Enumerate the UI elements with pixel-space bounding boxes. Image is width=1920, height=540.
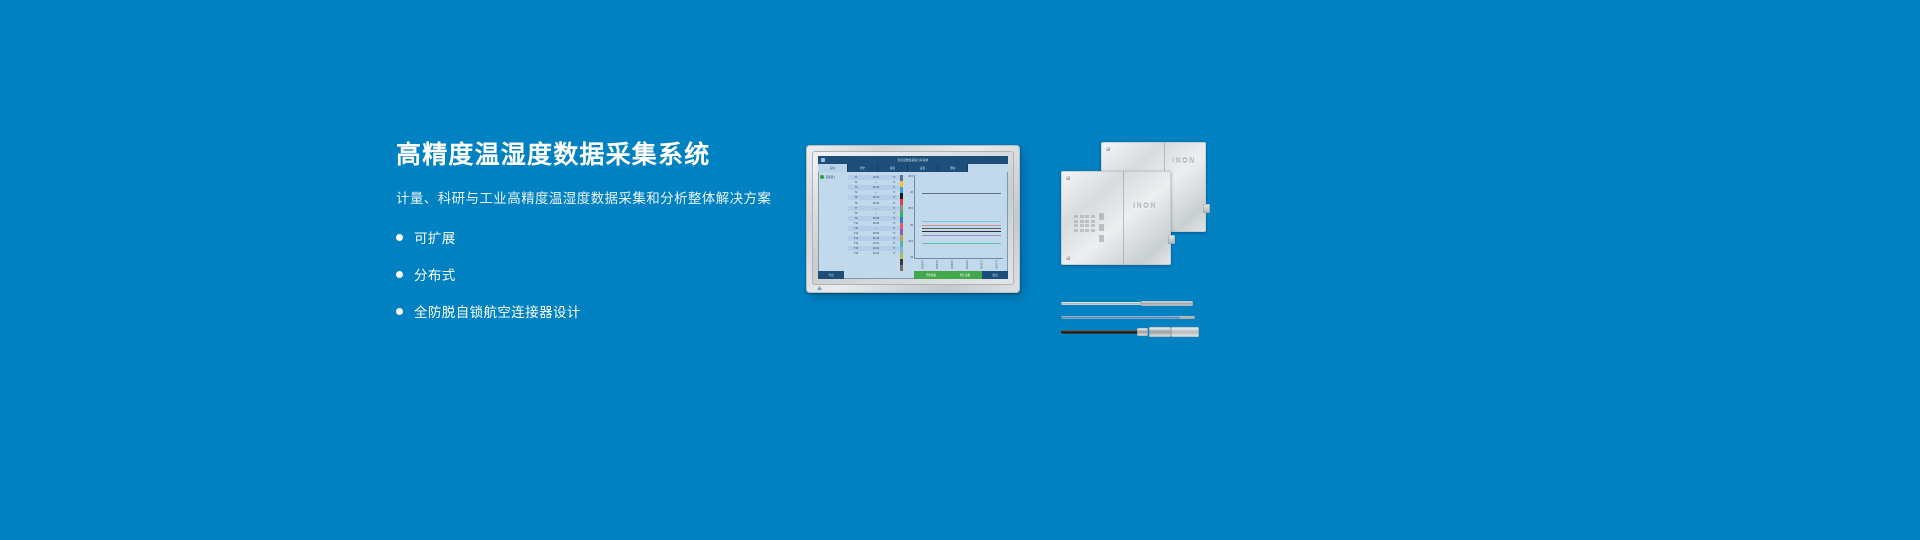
chart-x-tick: 10:20:00 (920, 260, 922, 271)
unit-cell: ℃ (888, 217, 900, 220)
channel-cell: T16 (848, 252, 864, 255)
chart-y-tick: 26.5 (908, 175, 913, 178)
value-cell: --- (864, 212, 888, 215)
unit-cell: ℃ (888, 222, 900, 225)
bullet-icon (396, 308, 403, 315)
acquisition-modules-image: INON INON (1061, 142, 1206, 297)
value-cell: --- (864, 181, 888, 184)
vendor-mark-icon (817, 286, 822, 290)
screen-body: 采集器 1 T125.81℃T2---℃T326.19℃T4---℃T526.7… (818, 172, 1008, 271)
exit-button: 退出 (982, 271, 1008, 279)
probe-connector-collar (1137, 328, 1148, 336)
connected-status-icon (820, 175, 824, 179)
tab-realtime: 实时 (818, 164, 848, 172)
chart-x-tick: 11:10:00 (995, 260, 997, 271)
chart-x-tick: 10:40:00 (950, 260, 952, 271)
channel-cell: T3 (848, 186, 864, 189)
panel-pc-product-image: 温湿度数据采集分析系统 实时 历史 报表 设置 帮助 采集器 1 (806, 145, 1020, 293)
channel-cell: T10 (848, 222, 864, 225)
chart-x-axis: 10:20:0010:30:0010:40:0010:50:0011:00:00… (914, 260, 1003, 271)
chart-plot-area (914, 175, 1003, 259)
channel-cell: T5 (848, 196, 864, 199)
connector-port (1168, 235, 1175, 244)
channel-cell: T2 (848, 181, 864, 184)
value-cell: --- (864, 191, 888, 194)
tab-history: 历史 (848, 164, 878, 172)
brand-label: INON (1133, 203, 1157, 210)
probe-cable (1061, 316, 1181, 319)
list-item: 全防脱自锁航空连接器设计 (396, 301, 816, 321)
chart-series-line (922, 225, 1001, 226)
chart-x-tick: 10:30:00 (935, 260, 937, 271)
chart-series-line (922, 243, 1001, 244)
chart-x-tick: 11:00:00 (980, 260, 982, 271)
table-row: T1625.94℃ (848, 251, 900, 256)
unit-cell: ℃ (888, 227, 900, 230)
channel-cell: T15 (848, 247, 864, 250)
start-capture-button: 开始采集 (914, 271, 948, 279)
value-cell: 25.81 (864, 176, 888, 179)
brand-label: INON (1172, 158, 1196, 165)
unit-cell: ℃ (888, 207, 900, 210)
unit-cell: ℃ (888, 212, 900, 215)
list-item: 可扩展 (396, 227, 816, 247)
chart-series-line (922, 231, 1001, 232)
value-cell: 25.94 (864, 252, 888, 255)
screen-titlebar: 温湿度数据采集分析系统 (818, 156, 1008, 164)
value-cell: --- (864, 207, 888, 210)
chart-y-tick: 24 (910, 256, 913, 259)
list-item: 分布式 (396, 264, 816, 284)
channel-cell: T13 (848, 237, 864, 240)
page-title: 高精度温湿度数据采集系统 (396, 140, 816, 170)
sensor-probes-image (1061, 300, 1206, 345)
screw-icon (1066, 176, 1070, 180)
unit-cell: ℃ (888, 196, 900, 199)
value-cell: 26.98 (864, 217, 888, 220)
channel-table: T125.81℃T2---℃T326.19℃T4---℃T526.72℃T626… (848, 172, 900, 271)
unit-cell: ℃ (888, 232, 900, 235)
unit-cell: ℃ (888, 191, 900, 194)
screen-tabbar: 实时 历史 报表 设置 帮助 (818, 164, 1008, 172)
footer-gap (844, 271, 914, 279)
tab-report: 报表 (878, 164, 908, 172)
bullet-icon (396, 271, 403, 278)
probe-cable (1061, 302, 1143, 305)
chart-series-line (922, 221, 1001, 222)
terminal-block-icon (1099, 213, 1104, 242)
device-tree-item: 采集器 1 (820, 175, 846, 179)
channel-cell: T11 (848, 227, 864, 230)
unit-cell: ℃ (888, 176, 900, 179)
chart-series-line (922, 228, 1001, 229)
probe-tip (1141, 301, 1193, 306)
chart-series-line (922, 193, 1001, 194)
bullet-icon (396, 234, 403, 241)
channel-cell: T1 (848, 176, 864, 179)
panel-pc-frame: 温湿度数据采集分析系统 实时 历史 报表 设置 帮助 采集器 1 (806, 145, 1020, 293)
value-cell: 26.61 (864, 202, 888, 205)
value-cell: 25.90 (864, 232, 888, 235)
value-cell: --- (864, 227, 888, 230)
channel-cell: T6 (848, 202, 864, 205)
screw-icon (1106, 147, 1110, 151)
channel-cell: T7 (848, 207, 864, 210)
feature-list: 可扩展 分布式 全防脱自锁航空连接器设计 (396, 227, 816, 321)
unit-cell: ℃ (888, 186, 900, 189)
page-subtitle: 计量、科研与工业高精度温湿度数据采集和分析整体解决方案 (396, 187, 816, 207)
chart-y-axis: 26.52625.52524.524 (904, 175, 913, 259)
unit-cell: ℃ (888, 252, 900, 255)
value-cell: 26.19 (864, 186, 888, 189)
screen-footer: 导出 开始采集 停止采集 退出 (818, 271, 1008, 279)
channel-cell: T8 (848, 212, 864, 215)
banner-copy: 高精度温湿度数据采集系统 计量、科研与工业高精度温湿度数据采集和分析整体解决方案… (396, 140, 816, 338)
promo-banner: 高精度温湿度数据采集系统 计量、科研与工业高精度温湿度数据采集和分析整体解决方案… (0, 0, 1920, 540)
terminal-grid-icon (1074, 215, 1095, 232)
channel-cell: T12 (848, 232, 864, 235)
export-button: 导出 (818, 271, 844, 279)
value-cell: 26.88 (864, 222, 888, 225)
channel-color-legend (900, 175, 903, 271)
value-cell: 26.72 (864, 196, 888, 199)
chart-x-tick: 10:50:00 (965, 260, 967, 271)
tab-settings: 设置 (908, 164, 938, 172)
screw-icon (1066, 256, 1070, 260)
device-tree-panel: 采集器 1 (818, 172, 848, 271)
stop-capture-button: 停止采集 (948, 271, 982, 279)
unit-cell: ℃ (888, 202, 900, 205)
channel-cell: T4 (848, 191, 864, 194)
value-cell: 26.90 (864, 247, 888, 250)
probe-connector-body (1149, 327, 1171, 337)
feature-label: 全防脱自锁航空连接器设计 (414, 301, 581, 321)
value-cell: 26.11 (864, 242, 888, 245)
chart-y-tick: 24.5 (908, 240, 913, 243)
chart-y-tick: 25 (910, 224, 913, 227)
channel-cell: T9 (848, 217, 864, 220)
chart-series-line (922, 235, 1001, 236)
tab-help: 帮助 (938, 164, 968, 172)
panel-pc-screen: 温湿度数据采集分析系统 实时 历史 报表 设置 帮助 采集器 1 (818, 156, 1008, 279)
tabbar-filler (968, 164, 1008, 172)
trend-chart: 26.52625.52524.524 10:20:0010:30:0010:40… (904, 175, 1005, 271)
probe-tip (1179, 316, 1195, 319)
unit-cell: ℃ (888, 247, 900, 250)
module-seam (1123, 171, 1124, 265)
unit-cell: ℃ (888, 237, 900, 240)
module-front: INON (1061, 171, 1171, 265)
probe-sensor-head (1171, 327, 1199, 337)
value-cell: 26.28 (864, 237, 888, 240)
chart-y-tick: 26 (910, 191, 913, 194)
chart-y-tick: 25.5 (908, 207, 913, 210)
device-tree-label: 采集器 1 (826, 175, 836, 179)
screen-app-title: 温湿度数据采集分析系统 (818, 158, 1008, 162)
feature-label: 可扩展 (414, 227, 456, 247)
channel-cell: T14 (848, 242, 864, 245)
unit-cell: ℃ (888, 181, 900, 184)
unit-cell: ℃ (888, 242, 900, 245)
feature-label: 分布式 (414, 264, 456, 284)
probe-cable (1061, 330, 1139, 334)
connector-port (1203, 204, 1210, 213)
